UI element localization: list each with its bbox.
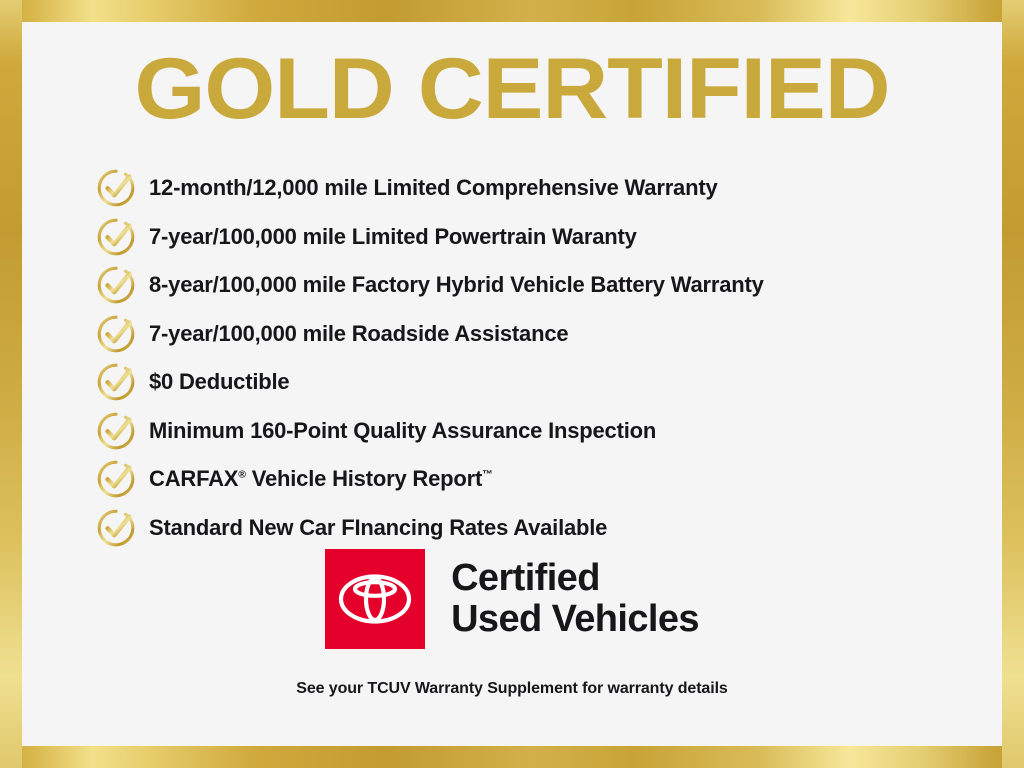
list-item: 12-month/12,000 mile Limited Comprehensi… — [95, 164, 995, 213]
list-item-label: 8-year/100,000 mile Factory Hybrid Vehic… — [149, 272, 764, 298]
list-item-label: 7-year/100,000 mile Roadside Assistance — [149, 321, 568, 347]
carfax-wordmark: CARFAX — [149, 466, 238, 491]
list-item: Minimum 160-Point Quality Assurance Insp… — [95, 407, 995, 456]
list-item-label: Minimum 160-Point Quality Assurance Insp… — [149, 418, 656, 444]
logo-line-certified: Certified — [451, 558, 699, 599]
gold-check-circle-icon — [95, 410, 137, 452]
gold-certified-certificate: GOLD CERTIFIED 12-month/12,000 mile Limi… — [0, 0, 1024, 768]
toyota-certified-used-vehicles-logo: Certified Used Vehicles — [22, 549, 1002, 649]
list-item-label: Standard New Car FInancing Rates Availab… — [149, 515, 607, 541]
list-item: Standard New Car FInancing Rates Availab… — [95, 504, 995, 553]
gold-check-circle-icon — [95, 313, 137, 355]
list-item: 8-year/100,000 mile Factory Hybrid Vehic… — [95, 261, 995, 310]
frame-border-top — [0, 0, 1024, 22]
benefits-list: 12-month/12,000 mile Limited Comprehensi… — [95, 164, 995, 552]
gold-check-circle-icon — [95, 167, 137, 209]
list-item: $0 Deductible — [95, 358, 995, 407]
list-item: 7-year/100,000 mile Limited Powertrain W… — [95, 213, 995, 262]
page-title: GOLD CERTIFIED — [0, 46, 1024, 132]
warranty-disclaimer: See your TCUV Warranty Supplement for wa… — [22, 680, 1002, 698]
gold-check-circle-icon — [95, 264, 137, 306]
list-item-label: 7-year/100,000 mile Limited Powertrain W… — [149, 224, 637, 250]
gold-check-circle-icon — [95, 216, 137, 258]
list-item: CARFAX® Vehicle History Report™ — [95, 455, 995, 504]
toyota-emblem-icon — [325, 549, 425, 649]
frame-border-left — [0, 0, 22, 768]
trademark-mark-icon: ™ — [482, 469, 492, 481]
toyota-emblem-glyph — [338, 573, 412, 625]
registered-mark-icon: ® — [238, 469, 246, 481]
list-item-label: 12-month/12,000 mile Limited Comprehensi… — [149, 175, 718, 201]
list-item-label-carfax: CARFAX® Vehicle History Report™ — [149, 466, 492, 492]
logo-line-used-vehicles: Used Vehicles — [451, 599, 699, 640]
gold-check-circle-icon — [95, 507, 137, 549]
list-item: 7-year/100,000 mile Roadside Assistance — [95, 310, 995, 359]
gold-check-circle-icon — [95, 458, 137, 500]
carfax-suffix: Vehicle History Report — [246, 466, 482, 491]
certificate-body: GOLD CERTIFIED 12-month/12,000 mile Limi… — [22, 22, 1002, 746]
logo-wordmark: Certified Used Vehicles — [451, 549, 699, 649]
frame-border-bottom — [0, 746, 1024, 768]
list-item-label: $0 Deductible — [149, 369, 289, 395]
frame-border-right — [1002, 0, 1024, 768]
gold-check-circle-icon — [95, 361, 137, 403]
